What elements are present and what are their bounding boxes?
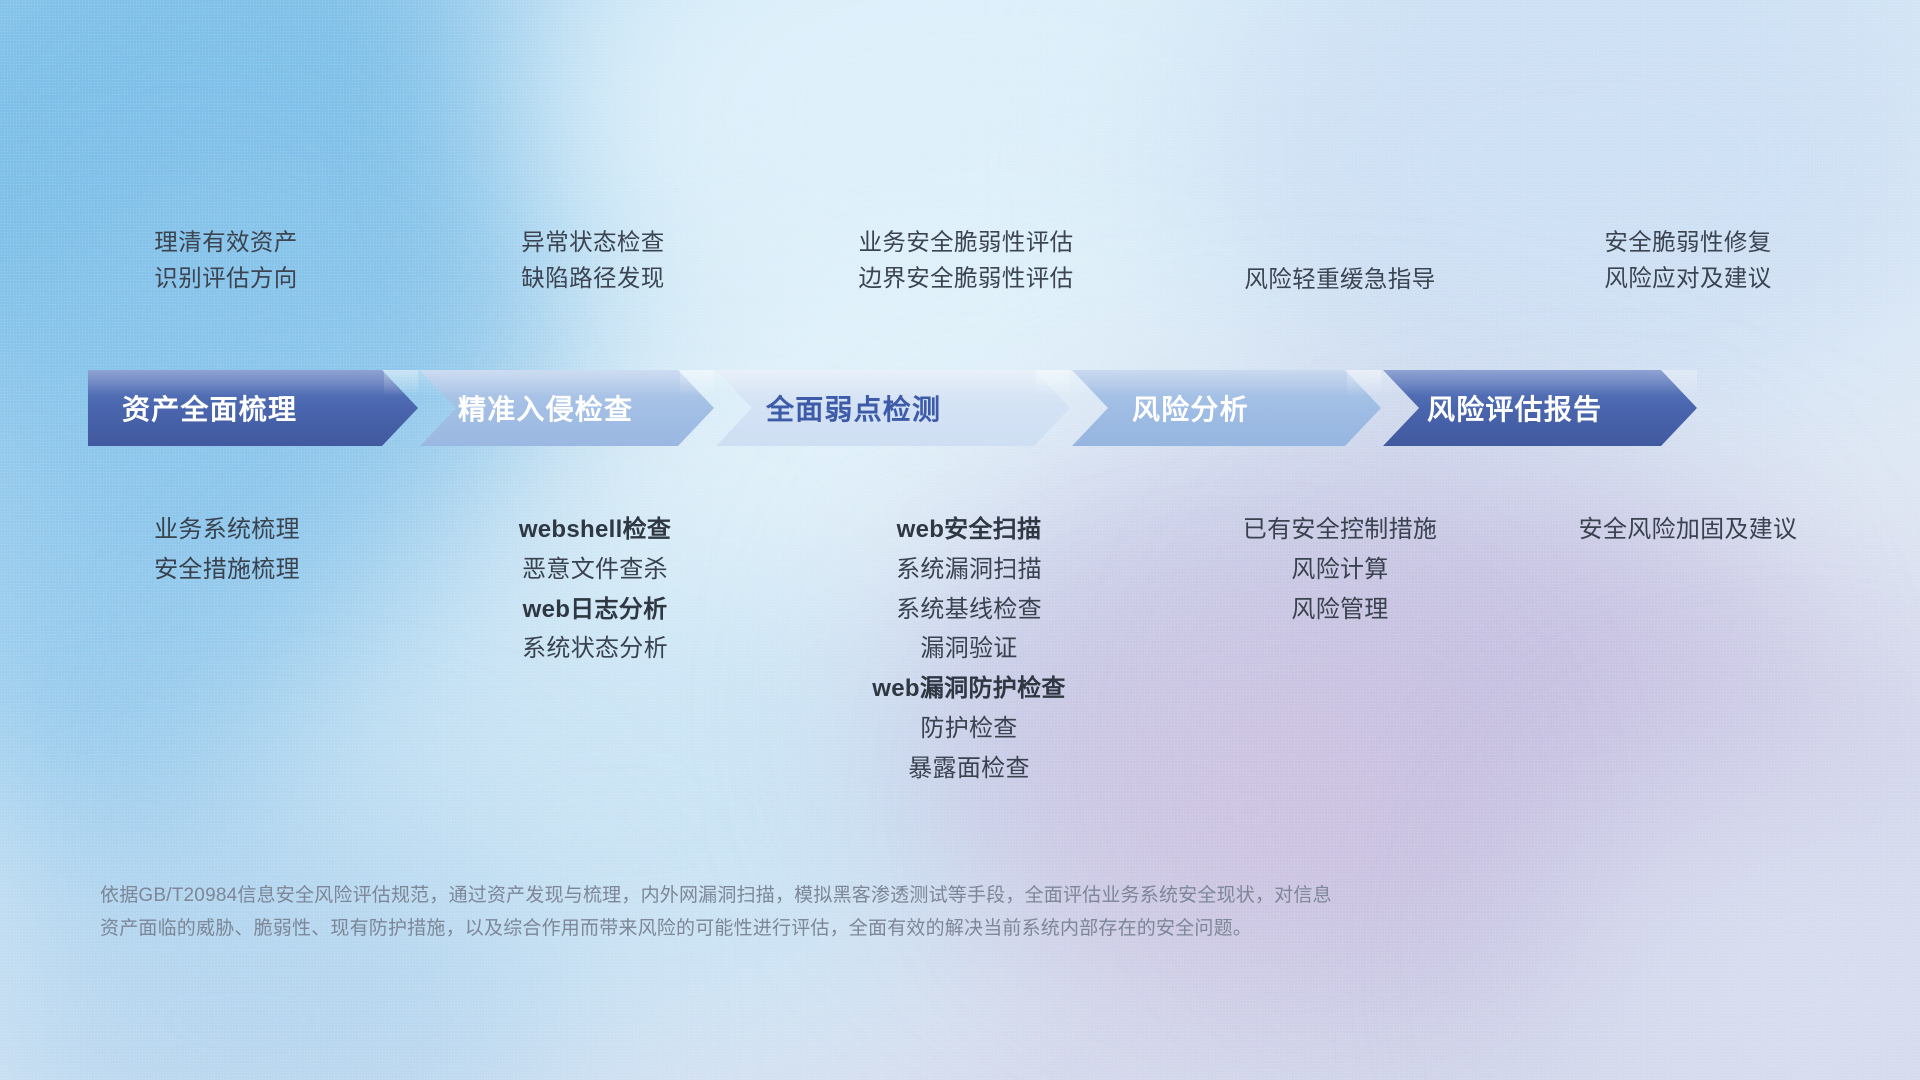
top-label: 风险应对及建议 — [1604, 261, 1771, 297]
footer-line-2: 资产面临的威胁、脆弱性、现有防护措施，以及综合作用而带来风险的可能性进行评估，全… — [100, 913, 1640, 946]
bottom-list-weakness-detection: web安全扫描 系统漏洞扫描 系统基线检查 漏洞验证 web漏洞防护检查 防护检… — [780, 500, 1170, 789]
list-item: 系统基线检查 — [896, 590, 1042, 630]
top-label: 识别评估方向 — [154, 261, 297, 297]
top-label: 业务安全脆弱性评估 — [858, 225, 1073, 261]
bottom-list-intrusion-check: webshell检查 恶意文件查杀 web日志分析 系统状态分析 — [450, 500, 780, 669]
top-label: 理清有效资产 — [154, 225, 297, 261]
top-labels-risk-report: 安全脆弱性修复 风险应对及建议 — [1510, 225, 1840, 335]
stage-arrow-label: 风险分析 — [1132, 388, 1249, 428]
stage-arrow-label: 风险评估报告 — [1427, 388, 1602, 428]
top-label: 风险轻重缓急指导 — [1244, 262, 1435, 298]
stage-arrow-asset-inventory[interactable]: 资产全面梳理 — [88, 370, 418, 446]
list-item: 系统状态分析 — [522, 629, 668, 669]
top-label: 安全脆弱性修复 — [1604, 225, 1771, 261]
bottom-list-risk-report: 安全风险加固及建议 — [1510, 500, 1840, 550]
list-item: web安全扫描 — [897, 510, 1042, 550]
list-item: 系统漏洞扫描 — [896, 550, 1042, 590]
stage-top-labels-row: 理清有效资产 识别评估方向 异常状态检查 缺陷路径发现 业务安全脆弱性评估 边界… — [90, 225, 1840, 335]
stage-arrow-risk-analysis[interactable]: 风险分析 — [1036, 370, 1381, 446]
stage-arrow-label: 资产全面梳理 — [122, 388, 297, 428]
list-item: 漏洞验证 — [920, 629, 1017, 669]
list-item: web漏洞防护检查 — [872, 669, 1065, 709]
list-item: 已有安全控制措施 — [1243, 510, 1437, 550]
stage-arrow-weakness-detection[interactable]: 全面弱点检测 — [680, 370, 1070, 446]
list-item: web日志分析 — [523, 590, 668, 630]
list-item: 安全措施梳理 — [154, 550, 300, 590]
stage-arrow-risk-report[interactable]: 风险评估报告 — [1347, 370, 1697, 446]
stage-arrow-label: 精准入侵检查 — [458, 388, 633, 428]
stage-bottom-lists-row: 业务系统梳理 安全措施梳理 webshell检查 恶意文件查杀 web日志分析 … — [90, 500, 1840, 789]
top-labels-weakness-detection: 业务安全脆弱性评估 边界安全脆弱性评估 — [780, 225, 1170, 335]
bottom-list-risk-analysis: 已有安全控制措施 风险计算 风险管理 — [1170, 500, 1510, 629]
list-item: 风险管理 — [1291, 590, 1388, 630]
list-item: 防护检查 — [920, 709, 1017, 749]
top-label: 缺陷路径发现 — [521, 261, 664, 297]
list-item: 暴露面检查 — [908, 749, 1030, 789]
bottom-list-asset-inventory: 业务系统梳理 安全措施梳理 — [90, 500, 450, 590]
top-label: 边界安全脆弱性评估 — [858, 261, 1073, 297]
list-item: webshell检查 — [519, 510, 671, 550]
list-item: 安全风险加固及建议 — [1579, 510, 1798, 550]
process-arrow-banner: 资产全面梳理 精准入侵检查 全面弱点检测 风险分析 风险评估报告 — [88, 370, 1848, 446]
top-label: 异常状态检查 — [521, 225, 664, 261]
top-labels-risk-analysis: 风险轻重缓急指导 — [1170, 225, 1510, 335]
list-item: 恶意文件查杀 — [522, 550, 668, 590]
list-item: 业务系统梳理 — [154, 510, 300, 550]
stage-arrow-label: 全面弱点检测 — [766, 388, 941, 428]
top-labels-asset-inventory: 理清有效资产 识别评估方向 — [90, 225, 450, 335]
stage-arrow-intrusion-check[interactable]: 精准入侵检查 — [384, 370, 714, 446]
list-item: 风险计算 — [1291, 550, 1388, 590]
footer-description: 依据GB/T20984信息安全风险评估规范，通过资产发现与梳理，内外网漏洞扫描，… — [100, 880, 1640, 945]
top-labels-intrusion-check: 异常状态检查 缺陷路径发现 — [450, 225, 780, 335]
footer-line-1: 依据GB/T20984信息安全风险评估规范，通过资产发现与梳理，内外网漏洞扫描，… — [100, 880, 1640, 913]
